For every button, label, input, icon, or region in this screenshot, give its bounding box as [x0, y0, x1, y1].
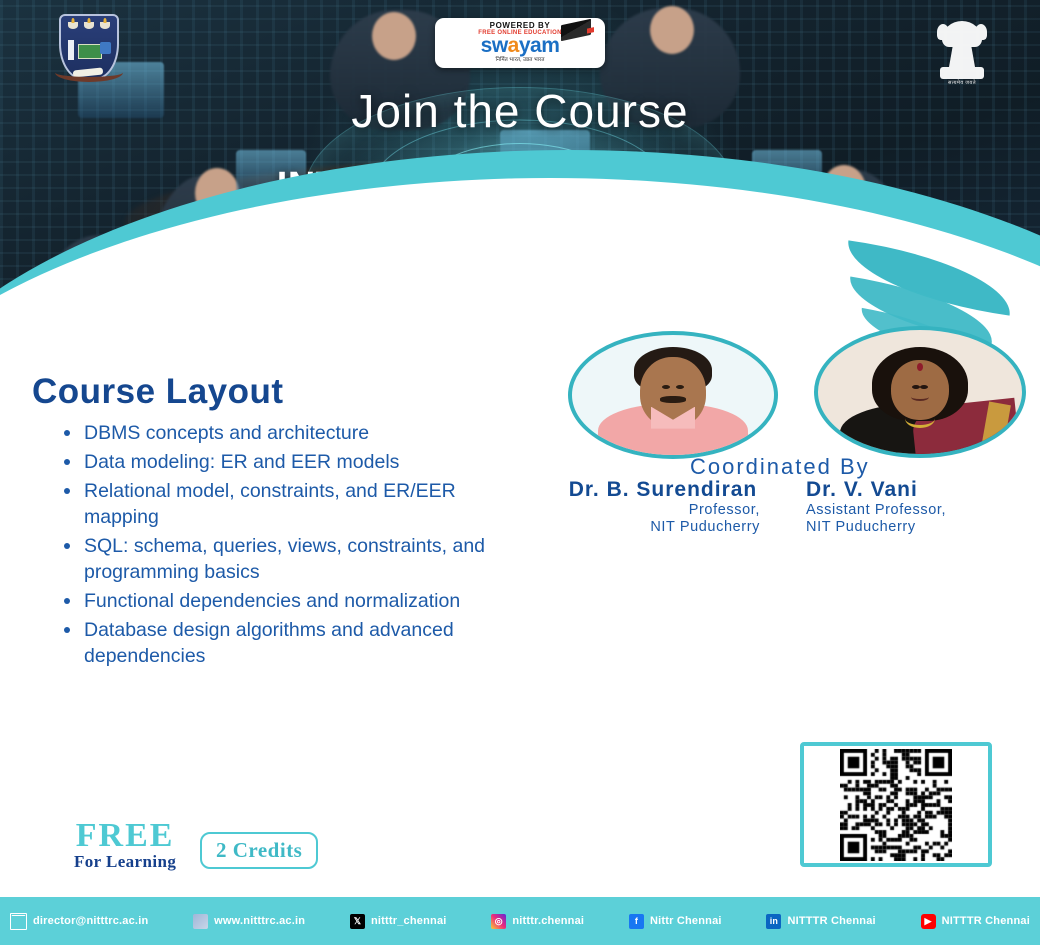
youtube-icon: ▶	[921, 914, 936, 929]
board-icon	[78, 44, 102, 59]
emblem-base	[940, 67, 984, 79]
coordinator-2-name: Dr. V. Vani	[806, 478, 1036, 502]
footer-label-instagram: nitttr.chennai	[512, 915, 584, 927]
footer-label-x: nitttr_chennai	[371, 915, 447, 927]
moustache	[660, 396, 686, 403]
face	[640, 357, 706, 427]
footer-label-facebook: Nittr Chennai	[650, 915, 722, 927]
coordinator-1-info: Dr. B. Surendiran Professor, NIT Puduche…	[548, 478, 778, 536]
coordinated-by-heading: Coordinated By	[690, 454, 870, 480]
list-item: DBMS concepts and architecture	[62, 420, 532, 446]
linkedin-icon: in	[766, 914, 781, 929]
eye-left	[912, 385, 920, 389]
footer-item-linkedin[interactable]: in NITTTR Chennai	[766, 914, 875, 929]
lamp-icon	[68, 22, 78, 29]
free-label: FREE	[74, 820, 176, 852]
course-layout-heading: Course Layout	[32, 372, 284, 412]
instagram-icon: ◎	[491, 914, 506, 929]
emblem-body	[949, 45, 975, 67]
course-poster: सत्यमेव जयते POWERED BY FREE ONLINE EDUC…	[0, 0, 1040, 945]
qr-code-image	[840, 749, 952, 861]
credits-badge: 2 Credits	[200, 832, 318, 869]
nitttr-crest-logo	[58, 14, 120, 86]
necklace	[905, 409, 935, 428]
footer-item-x[interactable]: 𝕏 nitttr_chennai	[350, 914, 447, 929]
lamp-icon	[100, 22, 110, 29]
crest-lamps	[61, 22, 117, 29]
portrait-female	[818, 330, 1022, 454]
x-twitter-icon: 𝕏	[350, 914, 365, 929]
email-icon	[10, 913, 27, 930]
footer-label-youtube: NITTTR Chennai	[942, 915, 1030, 927]
eye-left	[662, 385, 670, 389]
device-icon	[100, 42, 111, 54]
india-national-emblem-icon: सत्यमेव जयते	[932, 12, 992, 86]
list-item: Database design algorithms and advanced …	[62, 617, 532, 669]
portrait-male	[572, 335, 774, 455]
list-item: Data modeling: ER and EER models	[62, 449, 532, 475]
crest-ribbon	[55, 63, 123, 82]
coordinator-1-name: Dr. B. Surendiran	[548, 478, 778, 502]
social-footer-bar: director@nitttrc.ac.in www.nitttrc.ac.in…	[0, 897, 1040, 945]
swayam-wordmark: swayam	[481, 36, 560, 56]
coordinator-1-designation: Professor,	[548, 502, 778, 519]
free-sublabel: For Learning	[74, 852, 176, 872]
website-icon	[193, 914, 208, 929]
swayam-powered-by: POWERED BY	[490, 21, 551, 30]
swayam-tagline: निर्मित भारत, उन्नत भारत	[495, 57, 544, 64]
lamp-icon	[84, 22, 94, 29]
course-topics-list: DBMS concepts and architecture Data mode…	[42, 420, 532, 672]
enrollment-qr-code[interactable]	[800, 742, 992, 867]
list-item: Relational model, constraints, and ER/EE…	[62, 478, 532, 530]
coordinator-2-institute: NIT Puducherry	[806, 519, 1036, 536]
bindi	[917, 363, 923, 371]
books-icon	[561, 19, 591, 41]
head-top-left	[372, 12, 416, 60]
footer-item-youtube[interactable]: ▶ NITTTR Chennai	[921, 914, 1030, 929]
coordinator-2-info: Dr. V. Vani Assistant Professor, NIT Pud…	[806, 478, 1036, 536]
tower-icon	[68, 40, 74, 60]
emblem-lions	[942, 21, 982, 47]
footer-item-facebook[interactable]: f Nittr Chennai	[629, 914, 722, 929]
head-top-right	[650, 6, 694, 54]
footer-label-website: www.nitttrc.ac.in	[214, 915, 305, 927]
free-badge: FREE For Learning	[74, 820, 176, 872]
list-item: SQL: schema, queries, views, constraints…	[62, 533, 532, 585]
footer-item-instagram[interactable]: ◎ nitttr.chennai	[491, 914, 584, 929]
smile	[911, 393, 929, 401]
list-item: Functional dependencies and normalizatio…	[62, 588, 532, 614]
footer-label-email: director@nitttrc.ac.in	[33, 915, 148, 927]
swayam-logo-badge: POWERED BY FREE ONLINE EDUCATION swayam …	[435, 18, 605, 68]
footer-item-email[interactable]: director@nitttrc.ac.in	[10, 913, 148, 930]
join-the-course-heading: Join the Course	[0, 84, 1040, 138]
footer-item-website[interactable]: www.nitttrc.ac.in	[193, 914, 305, 929]
coordinator-photo-1	[568, 331, 778, 459]
eye-right	[676, 385, 684, 389]
footer-label-linkedin: NITTTR Chennai	[787, 915, 875, 927]
coordinator-2-designation: Assistant Professor,	[806, 502, 1036, 519]
coordinator-1-institute: NIT Puducherry	[548, 519, 778, 536]
eye-right	[920, 385, 928, 389]
coordinator-photo-2	[814, 326, 1026, 458]
facebook-icon: f	[629, 914, 644, 929]
